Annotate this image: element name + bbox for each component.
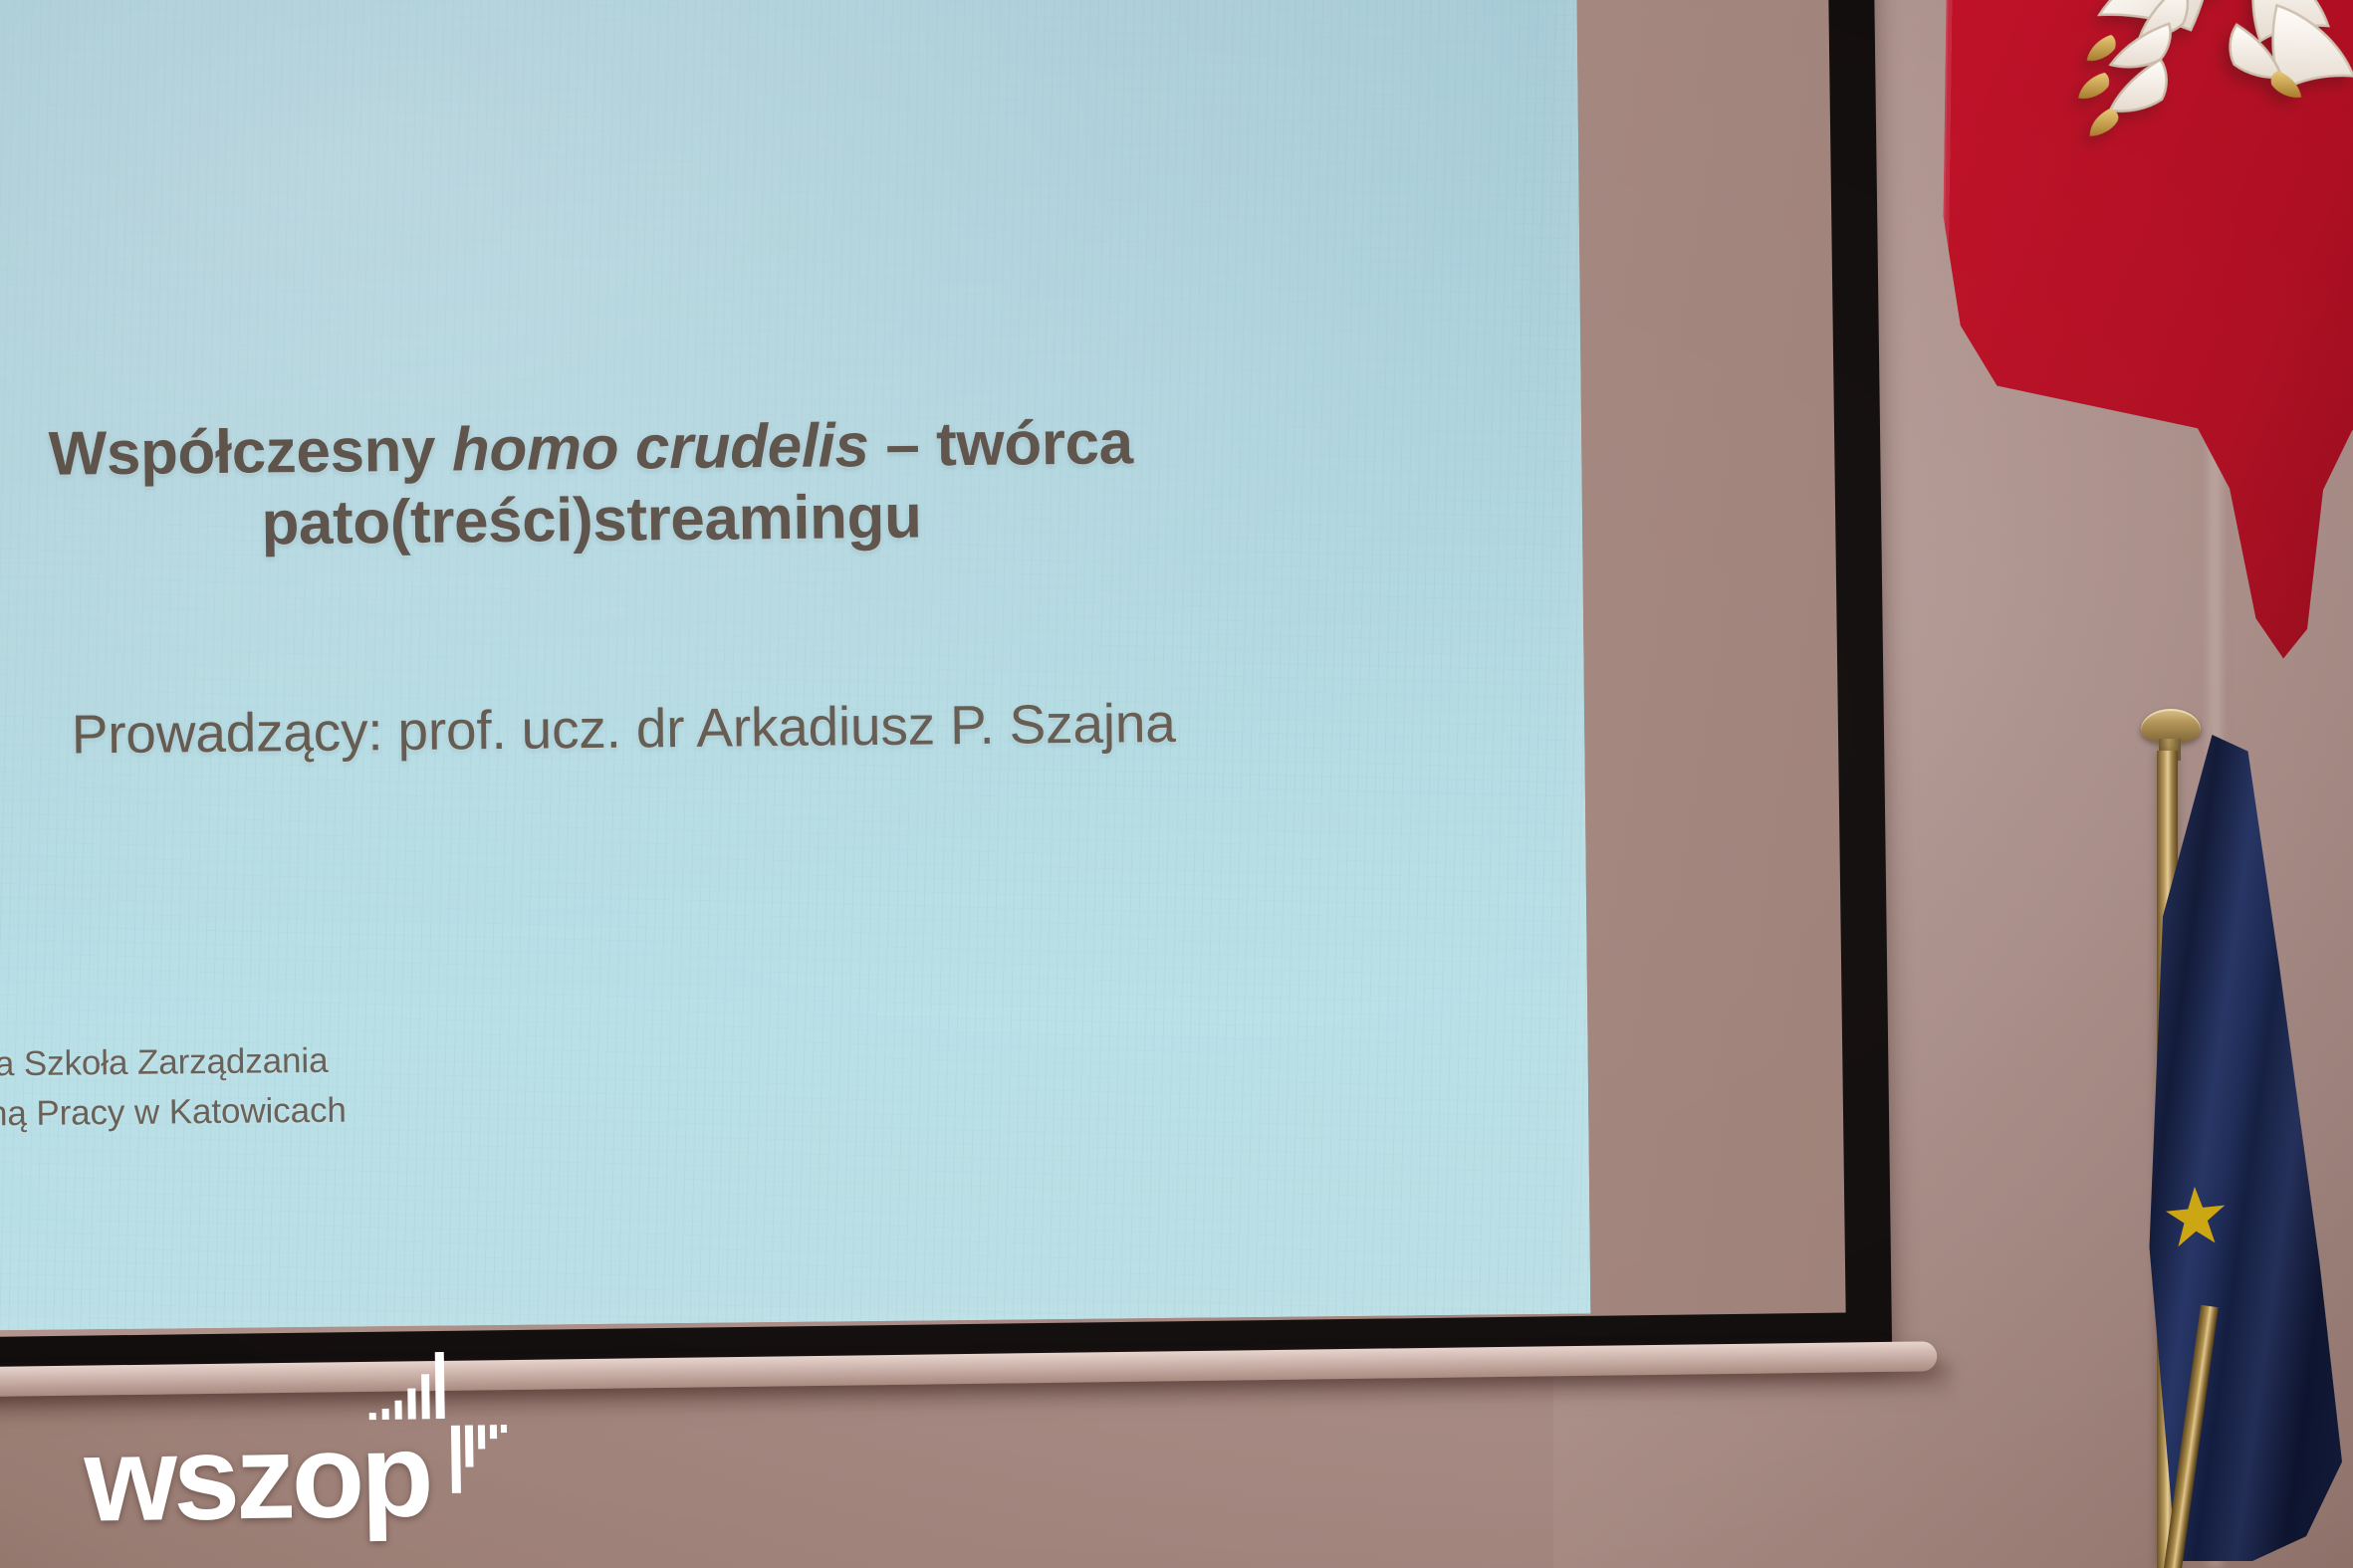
sound-bars-icon [366,1347,518,1498]
flagpole-finial [2141,709,2201,743]
slide-presenter-line: Prowadzący: prof. ucz. dr Arkadiusz P. S… [1,690,1247,767]
slide-title: Współczesny homo crudelis – twórca pato(… [0,407,1184,562]
wszop-logo-watermark: wszop [82,1330,553,1536]
photo-canvas: Współczesny homo crudelis – twórca pato(… [0,0,2353,1568]
slide-title-italic-term: homo crudelis [452,411,869,484]
slide-title-line2: pato(treści)streamingu [261,482,922,558]
slide-title-prefix: Współczesny [48,415,452,488]
slide-affiliation-line1: Wyższa Szkoła Zarządzania [0,1036,346,1090]
slide-content: Współczesny homo crudelis – twórca pato(… [0,0,1590,1334]
projected-slide: Współczesny homo crudelis – twórca pato(… [0,0,1590,1334]
slide-title-suffix: – twórca [868,408,1133,480]
slide-affiliation-line2: Ochroną Pracy w Katowicach [0,1085,347,1139]
european-union-flag [2117,709,2353,1568]
polish-coat-of-arms [1915,0,2353,691]
white-eagle-icon [1966,0,2353,327]
slide-affiliation: Wyższa Szkoła Zarządzania Ochroną Pracy … [0,1036,347,1140]
